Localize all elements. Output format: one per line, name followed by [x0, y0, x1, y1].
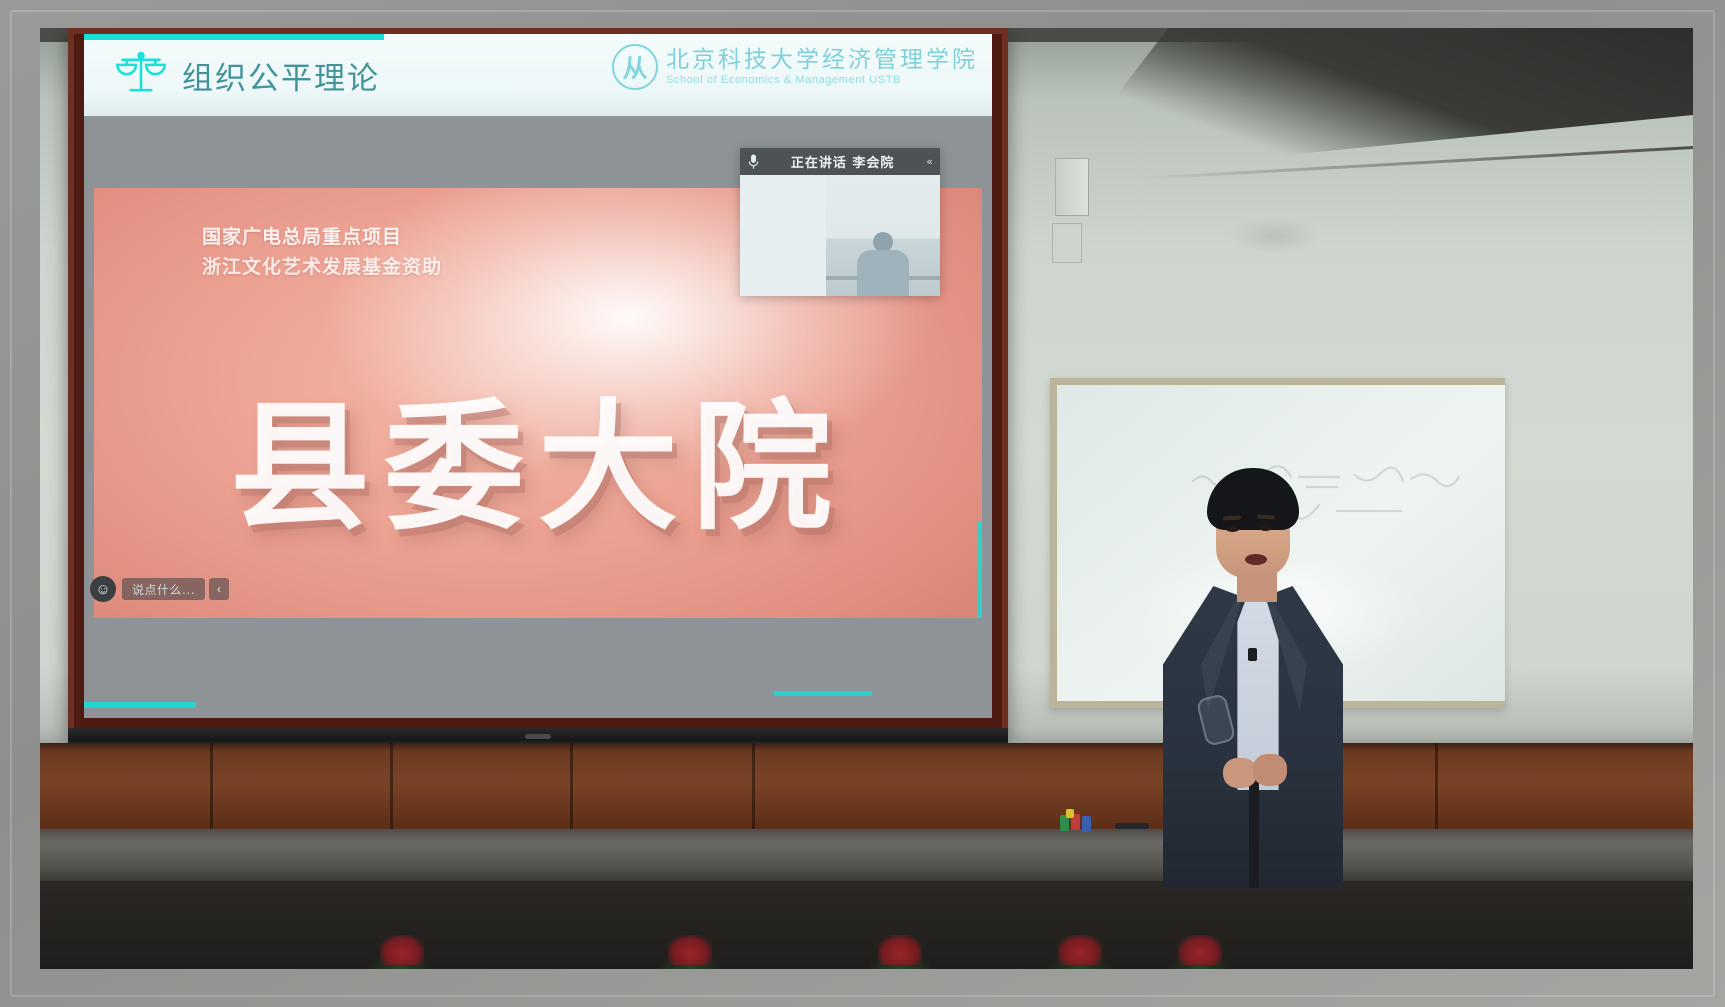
slide-header: 组织公平理论 从 北京科技大学经济管理学院 School of Economic…	[84, 34, 992, 116]
pip-header: 正在讲话 李会院 «	[740, 148, 940, 175]
logo-mark-ustb: 从	[612, 44, 658, 90]
pip-participant-body	[857, 250, 909, 296]
page-title: 组织公平理论	[182, 53, 380, 98]
pip-remote-participant	[857, 232, 909, 296]
marker-blue[interactable]	[1082, 816, 1091, 832]
balance-scale-icon	[114, 48, 168, 102]
photo-frame: 组织公平理论 从 北京科技大学经济管理学院 School of Economic…	[0, 0, 1725, 1007]
accent-tick-bottom-right	[774, 691, 872, 696]
presenter-hand-right	[1253, 754, 1287, 786]
pip-video-tile-right[interactable]	[826, 175, 940, 296]
smiley-face-icon[interactable]: ☺	[90, 576, 116, 602]
microphone-icon	[748, 154, 759, 170]
projection-screen-bezel: 组织公平理论 从 北京科技大学经济管理学院 School of Economic…	[74, 34, 1002, 732]
pip-participant-head	[873, 232, 893, 252]
chat-input[interactable]: 说点什么...	[122, 578, 205, 600]
stage-ledge	[40, 829, 1693, 881]
presenter-hair	[1207, 468, 1299, 530]
video-call-pip-panel[interactable]: 正在讲话 李会院 «	[740, 148, 940, 296]
slide-accent-bar	[84, 34, 384, 40]
panel-seam	[210, 743, 213, 829]
potted-flower	[1058, 935, 1102, 965]
presenter	[1145, 468, 1360, 888]
presenter-brow-right	[1257, 515, 1275, 520]
podium-wood-panels	[40, 743, 1693, 829]
university-name-en: School of Economics & Management USTB	[666, 75, 978, 87]
double-chevron-left-icon[interactable]: «	[926, 155, 932, 168]
panel-seam	[570, 743, 573, 829]
slide-title-group: 组织公平理论	[114, 48, 380, 102]
presenter-eye-left	[1226, 526, 1239, 532]
clip-on-microphone-icon	[1248, 648, 1257, 661]
wall-fixture-panel	[1055, 158, 1089, 216]
university-names: 北京科技大学经济管理学院 School of Economics & Manag…	[666, 48, 978, 87]
wall-exit-sign	[1052, 223, 1082, 263]
presenter-hand-left	[1223, 758, 1257, 788]
accent-tick-bottom-left	[84, 702, 196, 708]
laser-pointer[interactable]	[1115, 823, 1149, 829]
poster-main-title: 县委大院	[94, 398, 982, 538]
poster-line-1: 国家广电总局重点项目	[202, 222, 442, 252]
potted-flower	[668, 935, 712, 965]
university-name-cn: 北京科技大学经济管理学院	[666, 48, 978, 72]
chat-composer[interactable]: ☺ 说点什么... ‹	[90, 576, 229, 602]
pip-speaking-label: 正在讲话 李会院	[767, 152, 918, 171]
pip-video-body	[740, 175, 940, 296]
screen-mount-knob	[525, 734, 551, 739]
panel-seam	[390, 743, 393, 829]
presenter-mouth	[1245, 554, 1267, 565]
lecture-hall-photo: 组织公平理论 从 北京科技大学经济管理学院 School of Economic…	[40, 28, 1693, 969]
university-logo: 从 北京科技大学经济管理学院 School of Economics & Man…	[612, 44, 978, 90]
poster-credit-lines: 国家广电总局重点项目 浙江文化艺术发展基金资助	[202, 222, 442, 283]
panel-seam	[1435, 743, 1438, 829]
projection-screen-frame: 组织公平理论 从 北京科技大学经济管理学院 School of Economic…	[68, 28, 1008, 738]
pip-video-tile-left[interactable]	[740, 175, 826, 296]
wall-smudge	[1230, 218, 1320, 254]
presentation-slide: 组织公平理论 从 北京科技大学经济管理学院 School of Economic…	[84, 34, 992, 718]
panel-seam	[752, 743, 755, 829]
stage-floor	[40, 881, 1693, 969]
poster-line-2: 浙江文化艺术发展基金资助	[202, 252, 442, 282]
presenter-tie	[1249, 768, 1259, 888]
presenter-eye-right	[1259, 525, 1272, 531]
potted-flower	[1178, 935, 1222, 965]
chevron-left-icon[interactable]: ‹	[209, 578, 229, 600]
potted-flower	[878, 935, 922, 965]
potted-flower	[380, 935, 424, 965]
marker-yellow[interactable]	[1066, 809, 1074, 818]
